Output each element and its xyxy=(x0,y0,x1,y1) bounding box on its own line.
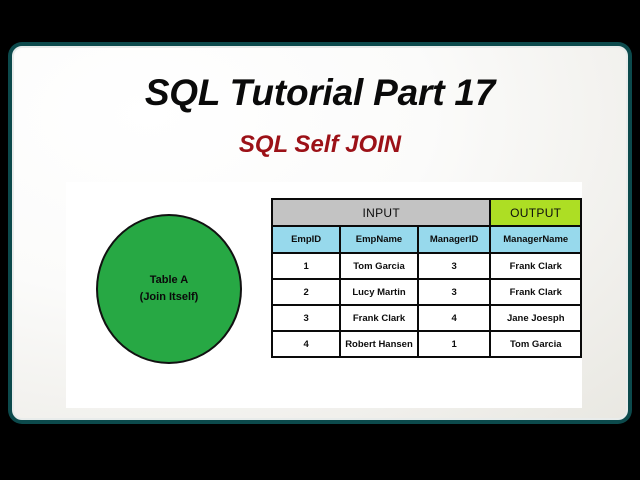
cell-managername: Frank Clark xyxy=(490,279,581,305)
slide-card: SQL Tutorial Part 17 SQL Self JOIN Table… xyxy=(8,42,632,424)
slide-inner-surface: SQL Tutorial Part 17 SQL Self JOIN Table… xyxy=(12,46,628,420)
video-letterbox-frame: SQL Tutorial Part 17 SQL Self JOIN Table… xyxy=(0,0,640,480)
cell-managerid: 3 xyxy=(418,253,491,279)
cell-empname: Frank Clark xyxy=(340,305,418,331)
circle-label-line-2: (Join Itself) xyxy=(140,289,199,306)
circle-label-line-1: Table A xyxy=(150,272,189,289)
column-header-empname: EmpName xyxy=(340,226,418,253)
page-subtitle: SQL Self JOIN xyxy=(14,131,626,159)
group-header-output: OUTPUT xyxy=(490,199,581,226)
table-row: 4 Robert Hansen 1 Tom Garcia xyxy=(272,331,581,357)
cell-empname: Tom Garcia xyxy=(340,253,418,279)
group-header-input: INPUT xyxy=(272,199,490,226)
content-panel: Table A (Join Itself) INPUT OUTPUT EmpID… xyxy=(66,182,582,408)
cell-managerid: 4 xyxy=(418,305,491,331)
cell-empname: Robert Hansen xyxy=(340,331,418,357)
cell-empid: 1 xyxy=(272,253,340,279)
table-body: 1 Tom Garcia 3 Frank Clark 2 Lucy Martin… xyxy=(272,253,581,357)
cell-empname: Lucy Martin xyxy=(340,279,418,305)
table-row: 1 Tom Garcia 3 Frank Clark xyxy=(272,253,581,279)
column-header-managerid: ManagerID xyxy=(418,226,491,253)
cell-empid: 3 xyxy=(272,305,340,331)
group-header-row: INPUT OUTPUT xyxy=(272,199,581,226)
table-a-circle-diagram: Table A (Join Itself) xyxy=(96,214,242,364)
cell-managername: Frank Clark xyxy=(490,253,581,279)
cell-empid: 4 xyxy=(272,331,340,357)
cell-managerid: 3 xyxy=(418,279,491,305)
cell-empid: 2 xyxy=(272,279,340,305)
cell-managerid: 1 xyxy=(418,331,491,357)
self-join-data-table: INPUT OUTPUT EmpID EmpName ManagerID Man… xyxy=(271,198,582,358)
column-header-row: EmpID EmpName ManagerID ManagerName xyxy=(272,226,581,253)
page-title: SQL Tutorial Part 17 xyxy=(14,72,626,114)
cell-managername: Jane Joesph xyxy=(490,305,581,331)
column-header-managername: ManagerName xyxy=(490,226,581,253)
column-header-empid: EmpID xyxy=(272,226,340,253)
cell-managername: Tom Garcia xyxy=(490,331,581,357)
table-head: INPUT OUTPUT EmpID EmpName ManagerID Man… xyxy=(272,199,581,253)
table-row: 3 Frank Clark 4 Jane Joesph xyxy=(272,305,581,331)
table-row: 2 Lucy Martin 3 Frank Clark xyxy=(272,279,581,305)
